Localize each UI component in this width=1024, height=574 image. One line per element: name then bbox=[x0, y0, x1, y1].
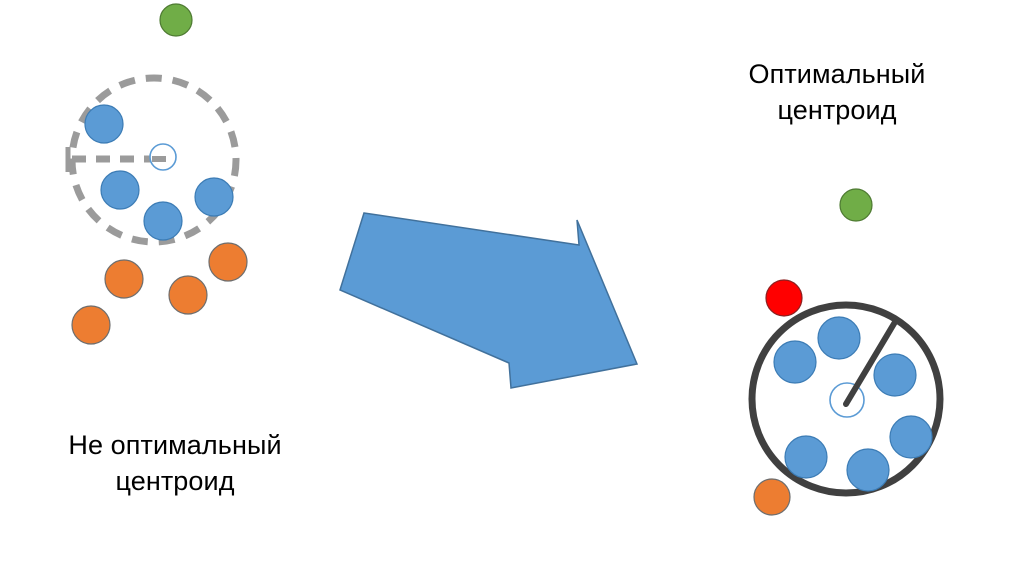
data-point-blue bbox=[144, 202, 182, 240]
left-cluster-label: Не оптимальный центроид bbox=[10, 428, 340, 500]
data-point-orange bbox=[72, 306, 110, 344]
data-point-blue bbox=[847, 449, 889, 491]
data-point-orange bbox=[169, 276, 207, 314]
data-point-blue bbox=[774, 341, 816, 383]
data-point-blue bbox=[874, 354, 916, 396]
non-optimal-centroid-cluster bbox=[68, 4, 247, 344]
data-point-blue bbox=[890, 416, 932, 458]
data-point-red bbox=[766, 280, 802, 316]
right-cluster-label: Оптимальный центроид bbox=[682, 57, 992, 129]
transition-arrow-icon bbox=[340, 213, 637, 388]
data-point-green bbox=[840, 189, 872, 221]
data-point-orange bbox=[105, 260, 143, 298]
data-point-blue bbox=[818, 317, 860, 359]
data-point-orange bbox=[754, 479, 790, 515]
data-point-blue bbox=[195, 178, 233, 216]
data-point-green bbox=[160, 4, 192, 36]
data-point-blue bbox=[785, 436, 827, 478]
data-point-blue bbox=[101, 171, 139, 209]
diagram-canvas: Не оптимальный центроид Оптимальный цент… bbox=[0, 0, 1024, 574]
optimal-centroid-cluster bbox=[752, 189, 940, 515]
data-point-orange bbox=[209, 243, 247, 281]
data-point-blue bbox=[85, 105, 123, 143]
